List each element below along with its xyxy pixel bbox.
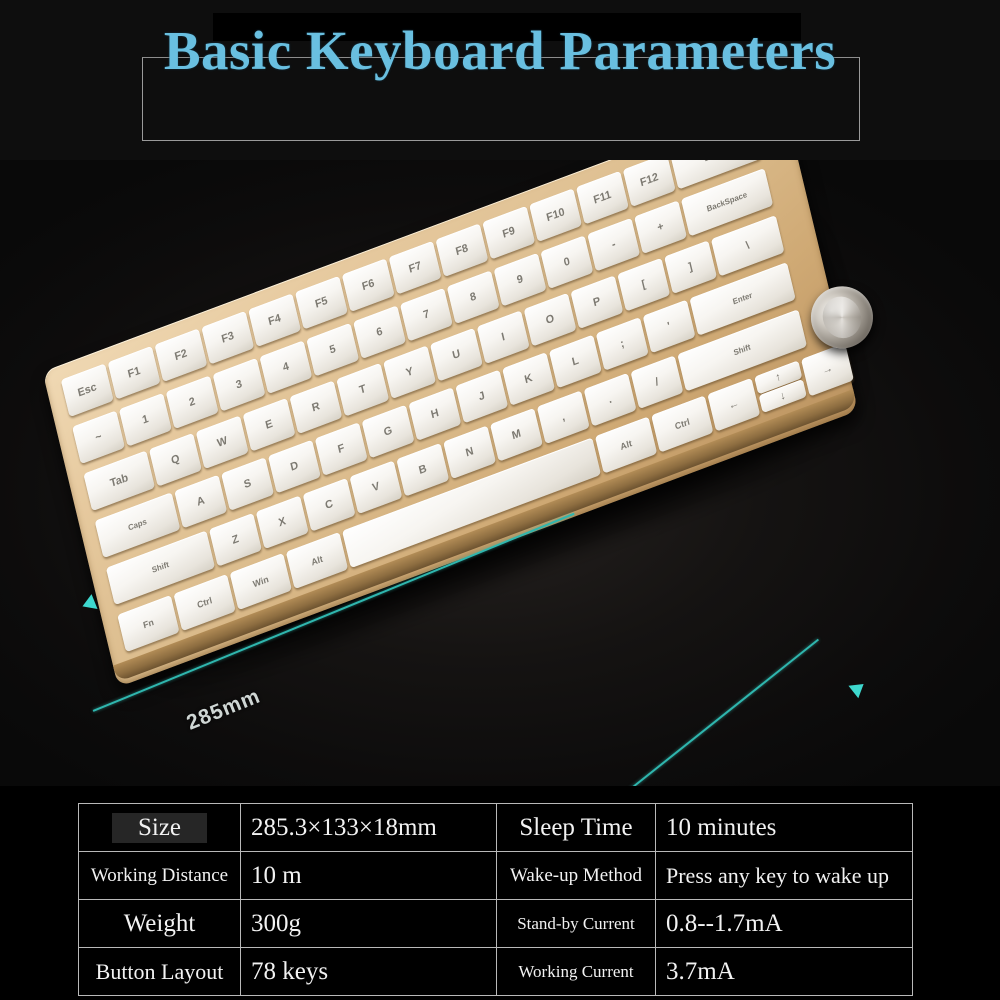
keyboard-key-ctrl: Ctrl xyxy=(173,574,235,631)
table-row: Weight 300g Stand-by Current 0.8--1.7mA xyxy=(79,900,913,948)
table-row: Size 285.3×133×18mm Sleep Time 10 minute… xyxy=(79,804,913,852)
keyboard-key-x: X xyxy=(256,495,309,549)
keyboard-key--: ; xyxy=(596,317,649,371)
keyboard-key-5: 5 xyxy=(306,323,359,377)
keyboard-key-3: 3 xyxy=(213,358,266,412)
keyboard-key-ctrl: Ctrl xyxy=(651,395,713,452)
keyboard-key-u: U xyxy=(430,328,483,382)
spec-label-wakeup-method: Wake-up Method xyxy=(497,852,656,900)
keyboard-key-p: P xyxy=(570,275,623,329)
keyboard-key-fn: Fn xyxy=(117,595,179,652)
keyboard-key-w: W xyxy=(196,415,249,469)
spec-label-working-current: Working Current xyxy=(497,948,656,996)
dimension-arrow-width-icon xyxy=(848,678,868,699)
spec-value-weight: 300g xyxy=(241,900,497,948)
keyboard-key--: , xyxy=(537,390,590,444)
keyboard-key--: / xyxy=(630,355,683,409)
keyboard-key-i: I xyxy=(477,310,530,364)
keyboard-key-o: O xyxy=(524,293,577,347)
keyboard-assembly: EscF1F2F3F4F5F6F7F8F9F10F11F12Delete~123… xyxy=(26,160,954,788)
page-title: Basic Keyboard Parameters xyxy=(0,19,1000,82)
keyboard-key-7: 7 xyxy=(400,288,453,342)
spec-label-weight: Weight xyxy=(79,900,241,948)
infographic-page: Basic Keyboard Parameters EscF1F2F3F4F5F… xyxy=(0,0,1000,1000)
spec-value-wakeup-method: Press any key to wake up xyxy=(656,852,913,900)
keyboard-key-9: 9 xyxy=(494,253,547,307)
keyboard-key-g: G xyxy=(362,405,415,459)
spec-label-standby-current: Stand-by Current xyxy=(497,900,656,948)
keyboard-key-q: Q xyxy=(149,433,202,487)
keyboard-arrow-key-icon: ← xyxy=(707,378,760,432)
spec-value-button-layout: 78 keys xyxy=(241,948,497,996)
keyboard-key-m: M xyxy=(490,408,543,462)
keyboard-key-t: T xyxy=(336,363,389,417)
keyboard-key-f12: F12 xyxy=(623,160,676,207)
spec-value-sleep-time: 10 minutes xyxy=(656,804,913,852)
keyboard-key-f: F xyxy=(315,422,368,476)
keyboard-key-s: S xyxy=(221,457,274,511)
spec-table: Size 285.3×133×18mm Sleep Time 10 minute… xyxy=(78,803,913,996)
keyboard-key-r: R xyxy=(289,380,342,434)
spec-table-region: Size 285.3×133×18mm Sleep Time 10 minute… xyxy=(0,786,1000,1000)
spec-value-working-current: 3.7mA xyxy=(656,948,913,996)
keyboard-key-c: C xyxy=(303,478,356,532)
keyboard-key-z: Z xyxy=(209,513,262,567)
keyboard-key-alt: Alt xyxy=(595,416,657,473)
spec-value-size: 285.3×133×18mm xyxy=(241,804,497,852)
keyboard-key-6: 6 xyxy=(353,305,406,359)
table-row: Working Distance 10 m Wake-up Method Pre… xyxy=(79,852,913,900)
spec-label-button-layout: Button Layout xyxy=(79,948,241,996)
keyboard-key-h: H xyxy=(408,387,461,441)
table-row: Button Layout 78 keys Working Current 3.… xyxy=(79,948,913,996)
keyboard-key-d: D xyxy=(268,440,321,494)
keyboard-key-2: 2 xyxy=(166,375,219,429)
spec-label-size-text: Size xyxy=(112,813,207,843)
keyboard-key--: - xyxy=(587,218,640,272)
keyboard-key--: ] xyxy=(664,240,717,294)
spec-label-working-distance: Working Distance xyxy=(79,852,241,900)
keyboard-key-4: 4 xyxy=(259,340,312,394)
keyboard-key-v: V xyxy=(349,460,402,514)
keyboard-key--: ~ xyxy=(72,410,125,464)
spec-label-size: Size xyxy=(79,804,241,852)
keyboard-key--: [ xyxy=(617,258,670,312)
keyboard-key--: + xyxy=(634,200,687,254)
keyboard-key--: . xyxy=(584,373,637,427)
keyboard-key-0: 0 xyxy=(540,235,593,289)
spec-label-sleep-time: Sleep Time xyxy=(497,804,656,852)
keyboard-key-alt: Alt xyxy=(286,532,348,589)
keyboard-key-a: A xyxy=(174,475,227,529)
keyboard-key-8: 8 xyxy=(447,270,500,324)
keyboard-key-n: N xyxy=(443,425,496,479)
keyboard-key-y: Y xyxy=(383,345,436,399)
keyboard-key-1: 1 xyxy=(119,393,172,447)
keyboard-key-e: E xyxy=(243,398,296,452)
keyboard-key-l: L xyxy=(549,335,602,389)
spec-value-standby-current: 0.8--1.7mA xyxy=(656,900,913,948)
product-photo: EscF1F2F3F4F5F6F7F8F9F10F11F12Delete~123… xyxy=(0,160,1000,788)
keyboard-key-win: Win xyxy=(230,553,292,610)
keyboard-key-k: K xyxy=(502,352,555,406)
keyboard-key-j: J xyxy=(455,370,508,424)
keyboard-key-b: B xyxy=(396,443,449,497)
spec-value-working-distance: 10 m xyxy=(241,852,497,900)
keyboard-key--: ' xyxy=(643,300,696,354)
